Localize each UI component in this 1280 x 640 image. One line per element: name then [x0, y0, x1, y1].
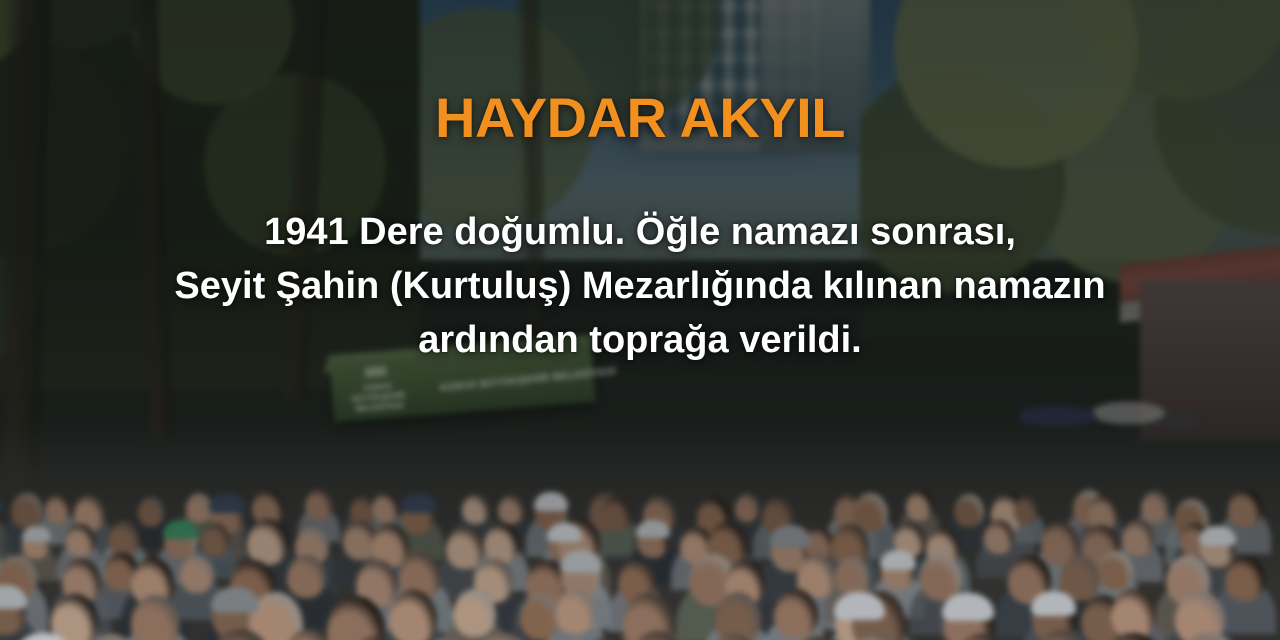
page-title: HAYDAR AKYIL	[435, 90, 845, 146]
obituary-text: 1941 Dere doğumlu. Öğle namazı sonrası, …	[110, 206, 1170, 368]
obituary-line-1: 1941 Dere doğumlu. Öğle namazı sonrası,	[110, 206, 1170, 260]
obituary-card: KONYA BÜYÜKŞEHİR BELEDİYESİ KONYA BÜYÜKŞ…	[0, 0, 1280, 640]
obituary-line-3: ardından toprağa verildi.	[110, 314, 1170, 368]
obituary-line-2: Seyit Şahin (Kurtuluş) Mezarlığında kılı…	[110, 260, 1170, 314]
text-layer: HAYDAR AKYIL 1941 Dere doğumlu. Öğle nam…	[0, 0, 1280, 640]
